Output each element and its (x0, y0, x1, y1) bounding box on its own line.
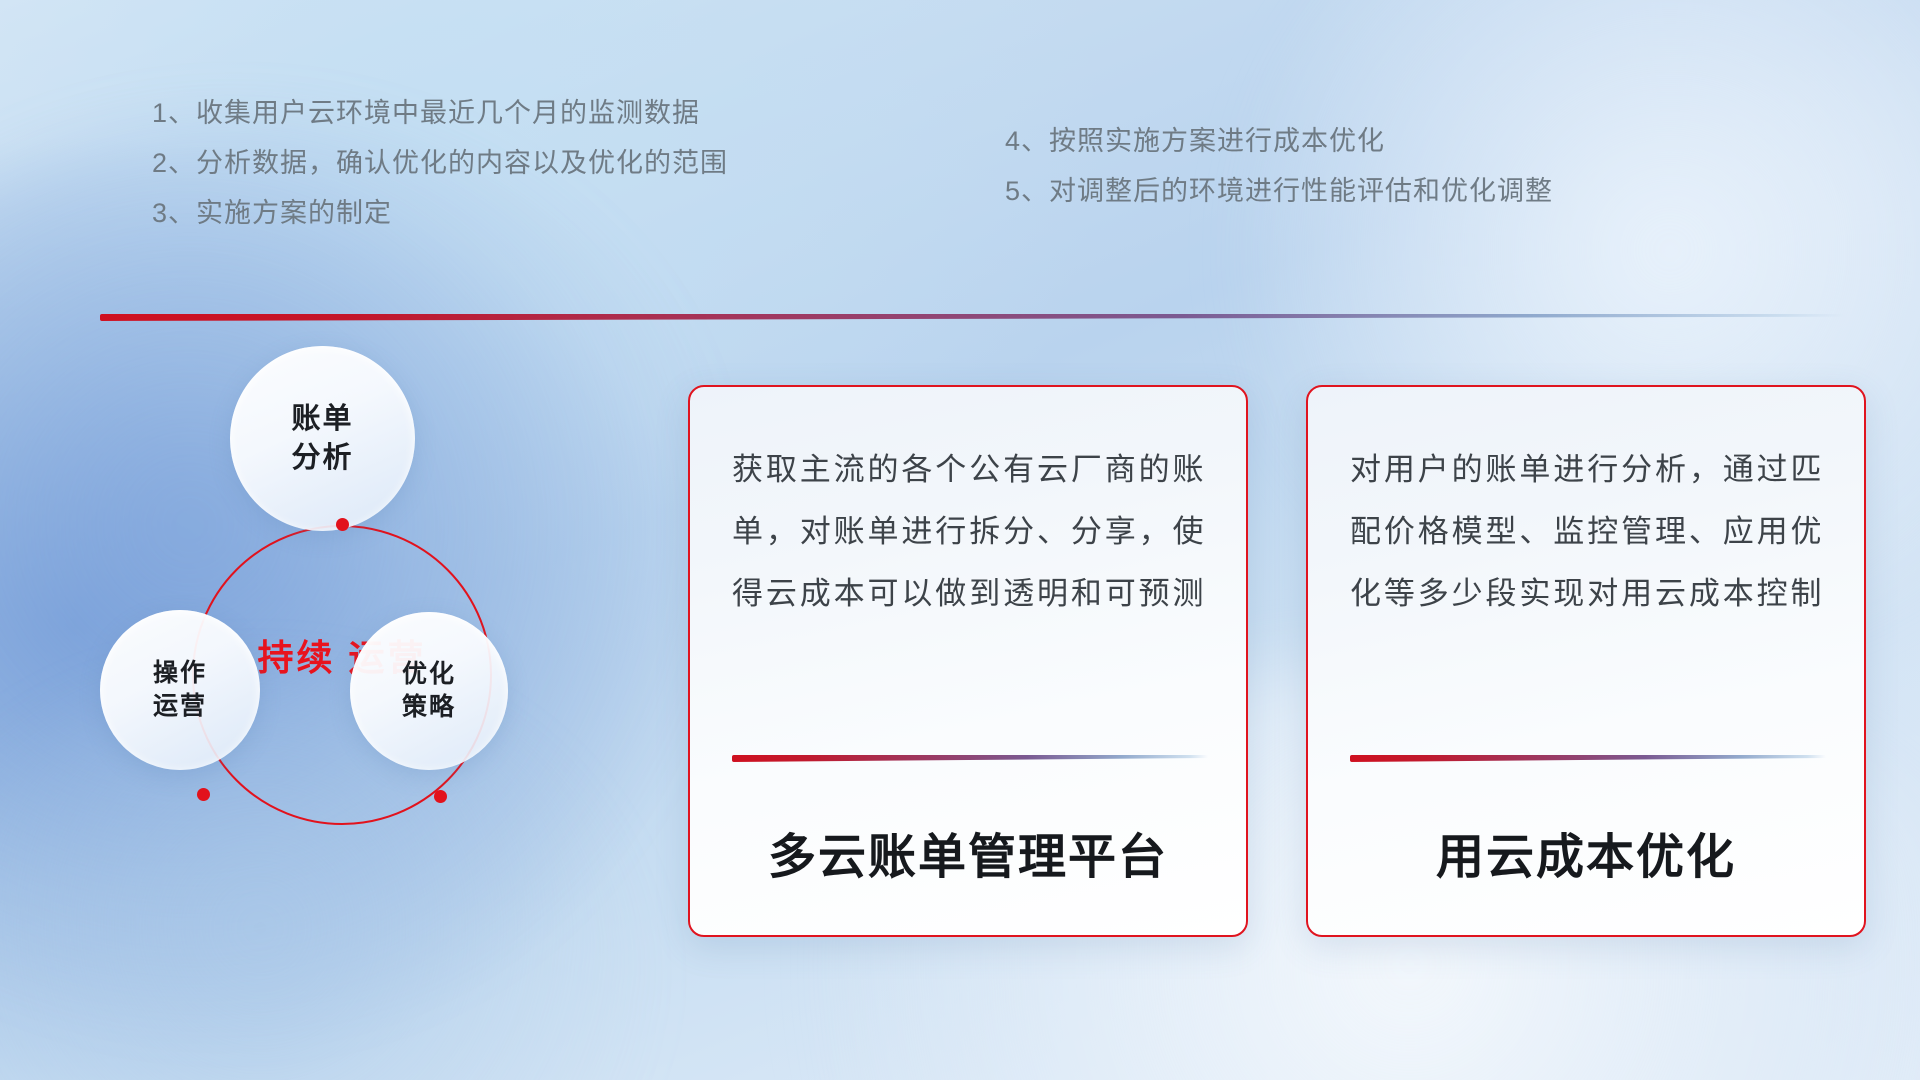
feature-card-cloud-cost-optimization-divider (1350, 755, 1826, 762)
feature-cards-region: 获取主流的各个公有云厂商的账单，对账单进行拆分、分享，使得云成本可以做到透明和可… (0, 0, 1920, 1080)
feature-card-multicloud-billing-divider (732, 755, 1208, 762)
feature-card-multicloud-billing[interactable]: 获取主流的各个公有云厂商的账单，对账单进行拆分、分享，使得云成本可以做到透明和可… (688, 385, 1248, 937)
feature-card-cloud-cost-optimization-title: 用云成本优化 (1308, 817, 1864, 887)
feature-card-cloud-cost-optimization[interactable]: 对用户的账单进行分析，通过匹配价格模型、监控管理、应用优化等多少段实现对用云成本… (1306, 385, 1866, 937)
feature-card-cloud-cost-optimization-body: 对用户的账单进行分析，通过匹配价格模型、监控管理、应用优化等多少段实现对用云成本… (1350, 439, 1822, 625)
feature-card-multicloud-billing-title: 多云账单管理平台 (690, 817, 1246, 887)
feature-card-multicloud-billing-body: 获取主流的各个公有云厂商的账单，对账单进行拆分、分享，使得云成本可以做到透明和可… (732, 439, 1204, 625)
